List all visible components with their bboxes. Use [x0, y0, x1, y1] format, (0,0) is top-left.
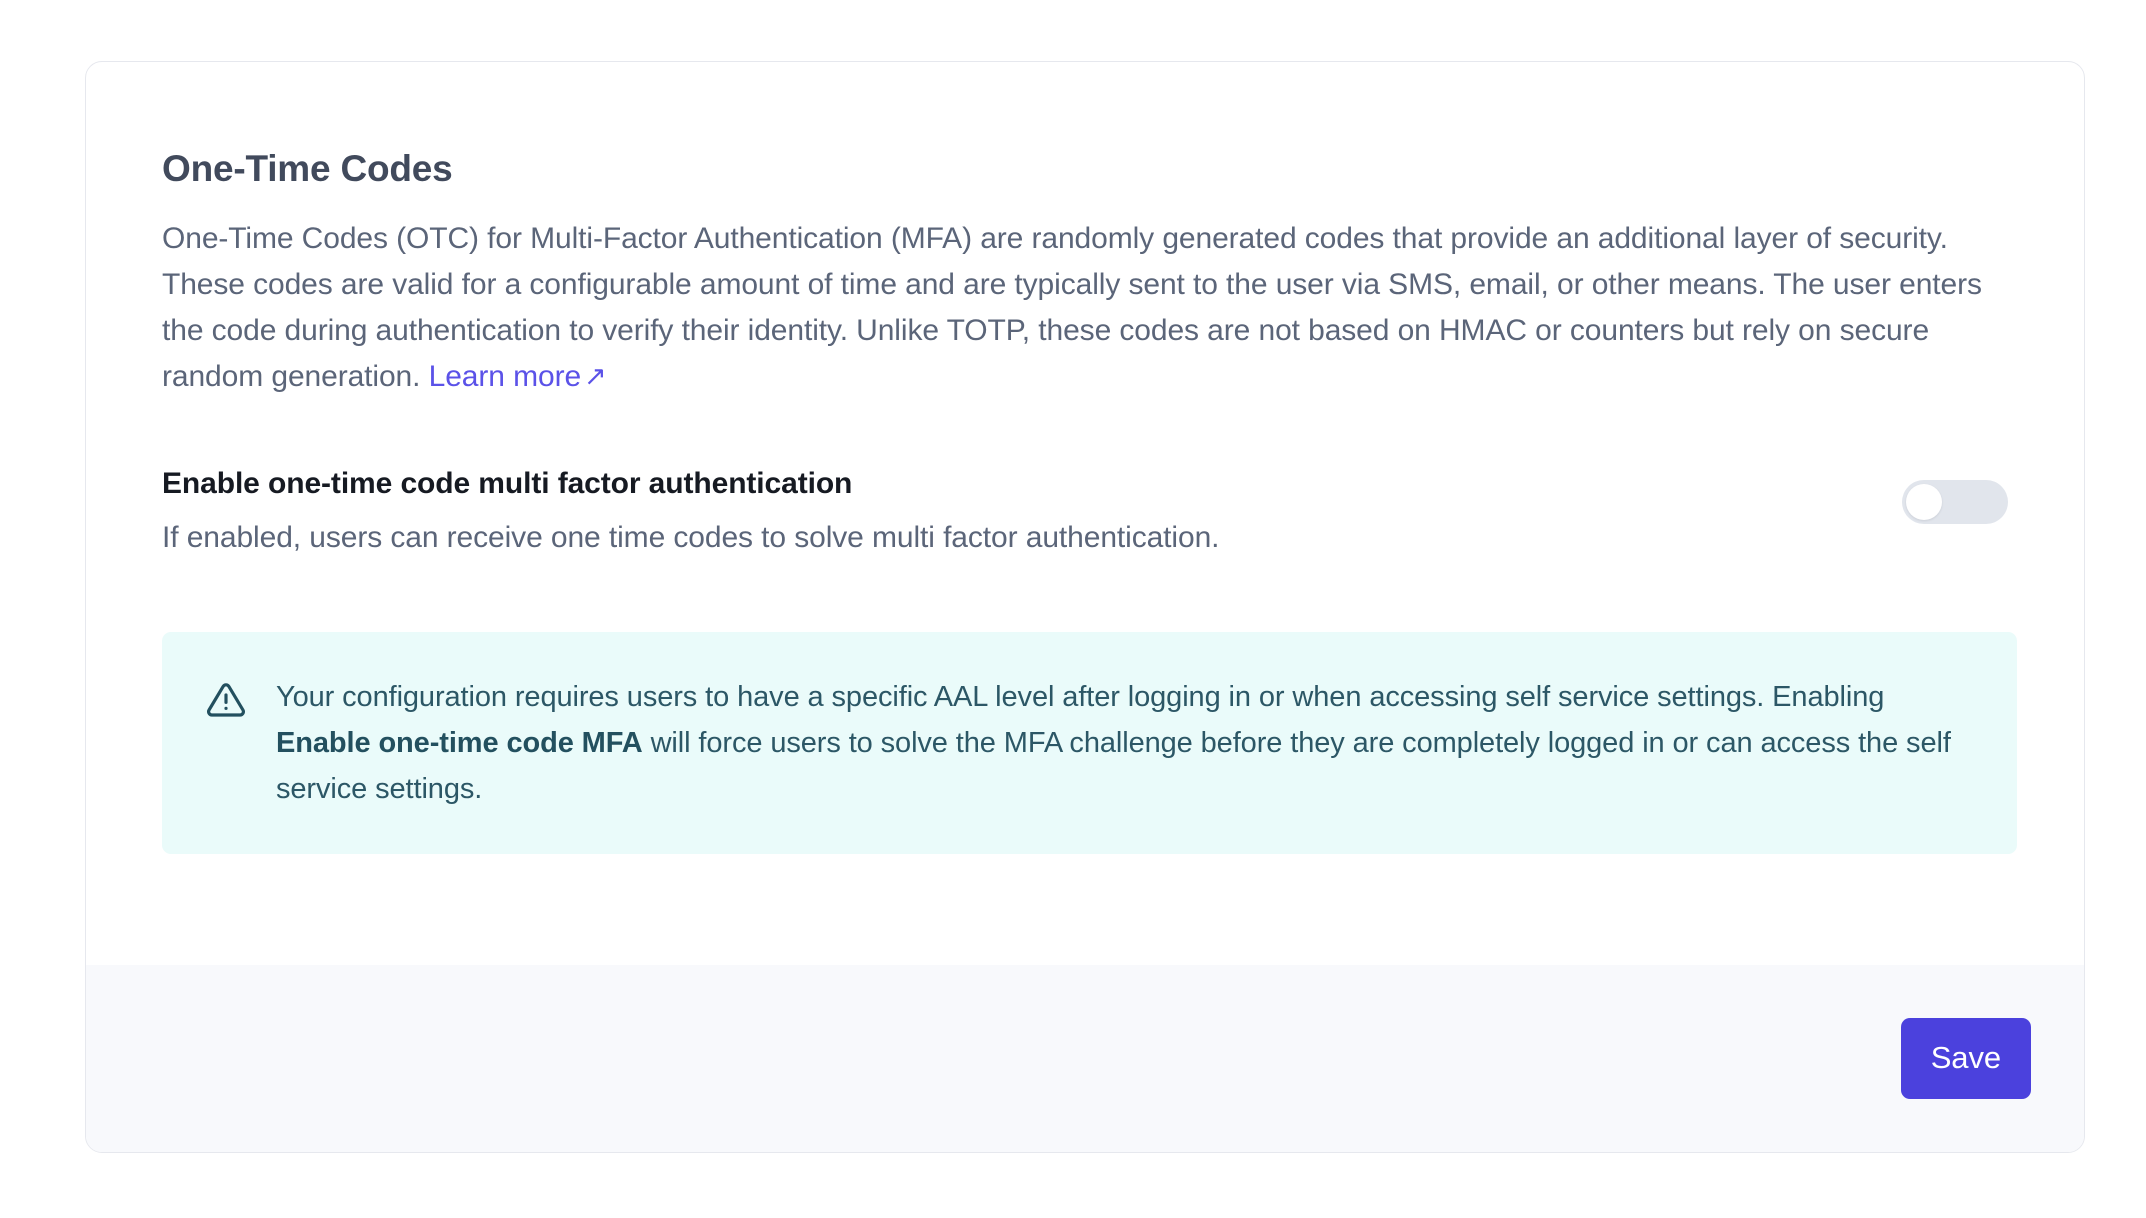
- enable-otc-mfa-label: Enable one-time code multi factor authen…: [162, 464, 1862, 504]
- aal-warning-text-part1: Your configuration requires users to hav…: [276, 681, 1884, 713]
- warning-triangle-icon: [206, 680, 246, 720]
- aal-warning-callout: Your configuration requires users to hav…: [162, 632, 2017, 854]
- enable-otc-mfa-description: If enabled, users can receive one time c…: [162, 518, 1862, 558]
- aal-warning-text: Your configuration requires users to hav…: [276, 674, 1971, 812]
- card-body: One-Time Codes One-Time Codes (OTC) for …: [86, 62, 2084, 965]
- toggle-knob: [1906, 484, 1942, 520]
- one-time-codes-card: One-Time Codes One-Time Codes (OTC) for …: [85, 61, 2085, 1153]
- page-root: One-Time Codes One-Time Codes (OTC) for …: [0, 0, 2146, 1218]
- card-description: One-Time Codes (OTC) for Multi-Factor Au…: [162, 216, 1992, 400]
- enable-otc-mfa-setting-row: Enable one-time code multi factor authen…: [162, 464, 2008, 558]
- setting-text-group: Enable one-time code multi factor authen…: [162, 464, 1862, 558]
- external-link-arrow-icon: ↗: [584, 353, 607, 399]
- enable-otc-mfa-toggle[interactable]: [1902, 480, 2008, 524]
- learn-more-label: Learn more: [429, 360, 581, 393]
- card-footer: Save: [86, 965, 2084, 1152]
- learn-more-link[interactable]: Learn more↗: [429, 360, 607, 393]
- aal-warning-emphasis: Enable one-time code MFA: [276, 727, 643, 759]
- save-button[interactable]: Save: [1901, 1018, 2031, 1099]
- page-title: One-Time Codes: [162, 146, 2008, 192]
